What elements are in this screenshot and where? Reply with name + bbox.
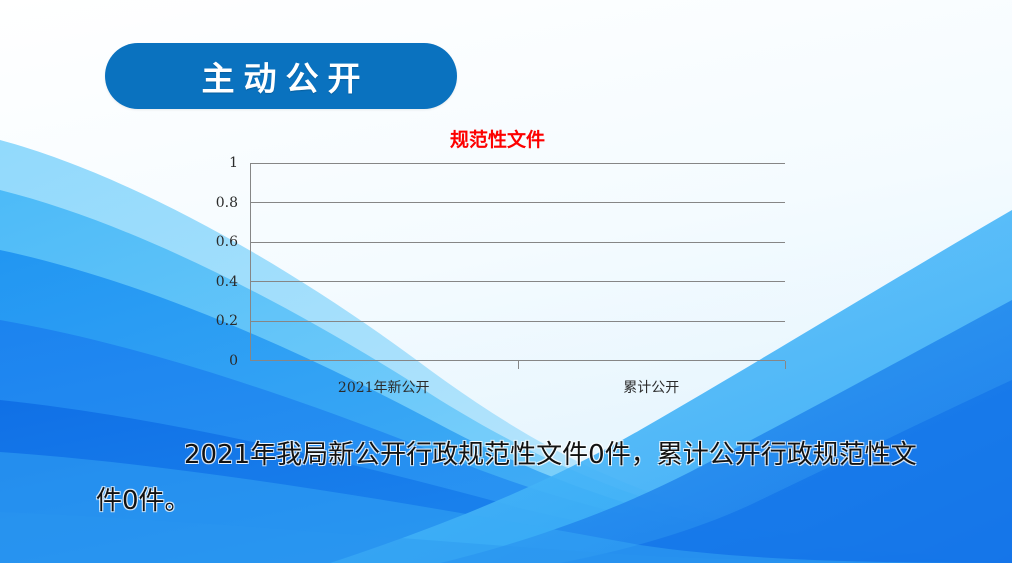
y-tick-label: 0.6 — [216, 234, 238, 250]
y-axis-labels: 1 0.8 0.6 0.4 0.2 0 — [200, 163, 244, 361]
y-tick-label: 1 — [229, 155, 238, 171]
gridline — [251, 202, 785, 203]
chart-title: 规范性文件 — [200, 125, 795, 152]
x-axis-labels: 2021年新公开 累计公开 — [250, 369, 785, 399]
x-axis-tick — [518, 361, 519, 369]
slide-title-text: 主动公开 — [193, 52, 370, 100]
slide-title-badge: 主动公开 — [105, 43, 457, 109]
chart-plot-area — [250, 163, 785, 361]
x-tick-label: 2021年新公开 — [250, 369, 518, 399]
body-paragraph: 2021年我局新公开行政规范性文件0件，累计公开行政规范性文件0件。 — [96, 432, 926, 524]
gridline — [251, 242, 785, 243]
y-tick-label: 0.8 — [216, 195, 238, 211]
gridline — [251, 163, 785, 164]
chart-plot-wrapper: 1 0.8 0.6 0.4 0.2 0 2021年新公开 累计公开 — [200, 163, 820, 393]
y-tick-label: 0 — [229, 353, 238, 369]
chart-container: 规范性文件 1 0.8 0.6 0.4 0.2 0 2021年新公开 — [200, 115, 820, 395]
y-tick-label: 0.2 — [216, 313, 238, 329]
gridline — [251, 321, 785, 322]
y-tick-label: 0.4 — [216, 274, 238, 290]
gridline — [251, 281, 785, 282]
x-tick-label: 累计公开 — [518, 369, 786, 399]
x-axis-tick — [785, 361, 786, 369]
slide-canvas: 主动公开 规范性文件 1 0.8 0.6 0.4 0.2 0 — [0, 0, 1012, 563]
